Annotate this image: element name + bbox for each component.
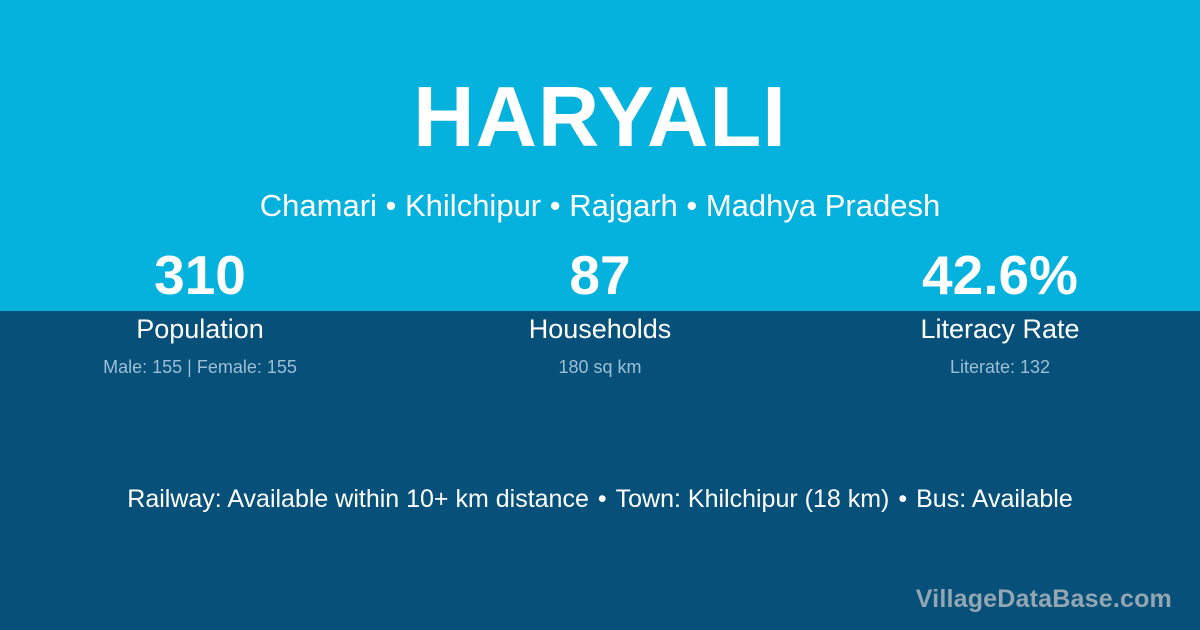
facility-railway: Railway: Available within 10+ km distanc… <box>127 485 589 513</box>
village-info-card: HARYALI Chamari • Khilchipur • Rajgarh •… <box>0 0 1200 630</box>
page-title: HARYALI <box>413 78 787 159</box>
facility-separator-2: • <box>889 484 916 514</box>
facilities-summary: Railway: Available within 10+ km distanc… <box>0 484 1200 514</box>
facility-separator-1: • <box>589 484 616 514</box>
stat-population-sub: Male: 155 | Female: 155 <box>103 357 297 378</box>
breadcrumb: Chamari • Khilchipur • Rajgarh • Madhya … <box>260 189 940 223</box>
stat-literacy-rate-sub: Literate: 132 <box>950 357 1050 378</box>
stat-literacy-rate-label: Literacy Rate <box>920 314 1079 345</box>
card-header: HARYALI Chamari • Khilchipur • Rajgarh •… <box>0 0 1200 240</box>
stat-households-label: Households <box>529 314 672 345</box>
facility-town: Town: Khilchipur (18 km) <box>616 485 890 513</box>
stat-population-label: Population <box>136 314 264 345</box>
stat-population: 310 Population Male: 155 | Female: 155 <box>0 240 400 390</box>
facility-bus: Bus: Available <box>916 485 1073 513</box>
stats-row: 310 Population Male: 155 | Female: 155 8… <box>0 240 1200 390</box>
site-watermark: VillageDataBase.com <box>916 584 1172 614</box>
stat-households: 87 Households 180 sq km <box>400 240 800 390</box>
stat-literacy-rate: 42.6% Literacy Rate Literate: 132 <box>800 240 1200 390</box>
stat-households-sub: 180 sq km <box>558 357 641 378</box>
stat-households-value: 87 <box>569 240 630 310</box>
stat-population-value: 310 <box>154 240 246 310</box>
stat-literacy-rate-value: 42.6% <box>922 240 1078 310</box>
